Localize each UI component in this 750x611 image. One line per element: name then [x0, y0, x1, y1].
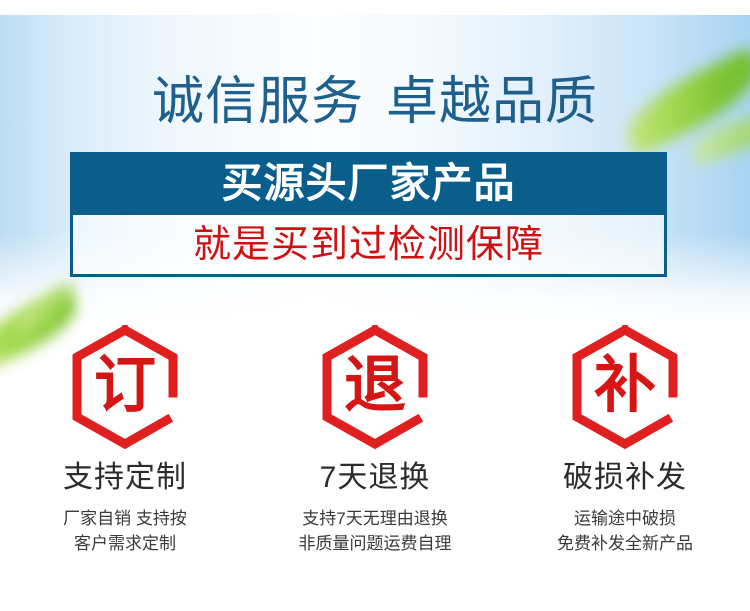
banner-primary-text: 买源头厂家产品: [222, 163, 516, 204]
headline-right-text: 卓越品质: [386, 73, 598, 131]
hexagon-return-icon: 退: [319, 325, 431, 449]
feature-sub-replace: 运输途中破损 免费补发全新产品: [557, 506, 693, 556]
feature-row: 订 支持定制 厂家自销 支持按 客户需求定制 退 7天退换 支持7天无理由退换 …: [0, 325, 750, 556]
feature-item-replace: 补 破损补发 运输途中破损 免费补发全新产品: [500, 325, 750, 556]
banner-secondary-text: 就是买到过检测保障: [193, 226, 544, 264]
banner-primary-bar: 买源头厂家产品: [70, 152, 667, 215]
hexagon-replace-icon: 补: [569, 325, 681, 449]
feature-sub-line2: 客户需求定制: [63, 531, 187, 556]
banner-secondary-bar: 就是买到过检测保障: [70, 215, 667, 277]
feature-item-return: 退 7天退换 支持7天无理由退换 非质量问题运费自理: [250, 325, 500, 556]
feature-sub-return: 支持7天无理由退换 非质量问题运费自理: [299, 506, 452, 556]
feature-sub-line2: 免费补发全新产品: [557, 531, 693, 556]
feature-sub-line1: 厂家自销 支持按: [63, 506, 187, 531]
page-headline: 诚信服务卓越品质: [0, 72, 750, 132]
headline-left-text: 诚信服务: [152, 73, 364, 131]
feature-sub-line2: 非质量问题运费自理: [299, 531, 452, 556]
feature-title-custom: 支持定制: [63, 461, 187, 494]
hexagon-return-char: 退: [319, 325, 431, 449]
feature-sub-line1: 支持7天无理由退换: [299, 506, 452, 531]
feature-sub-custom: 厂家自销 支持按 客户需求定制: [63, 506, 187, 556]
guarantee-banner: 买源头厂家产品 就是买到过检测保障: [70, 152, 667, 277]
feature-item-custom: 订 支持定制 厂家自销 支持按 客户需求定制: [0, 325, 250, 556]
feature-sub-line1: 运输途中破损: [557, 506, 693, 531]
hexagon-replace-char: 补: [569, 325, 681, 449]
hexagon-order-char: 订: [69, 325, 181, 449]
background-top-strip: [0, 0, 750, 15]
feature-title-replace: 破损补发: [563, 461, 687, 494]
promo-banner-page: 诚信服务卓越品质 买源头厂家产品 就是买到过检测保障 订 支持定制 厂家自销 支…: [0, 0, 750, 611]
feature-title-return: 7天退换: [320, 461, 431, 494]
hexagon-order-icon: 订: [69, 325, 181, 449]
